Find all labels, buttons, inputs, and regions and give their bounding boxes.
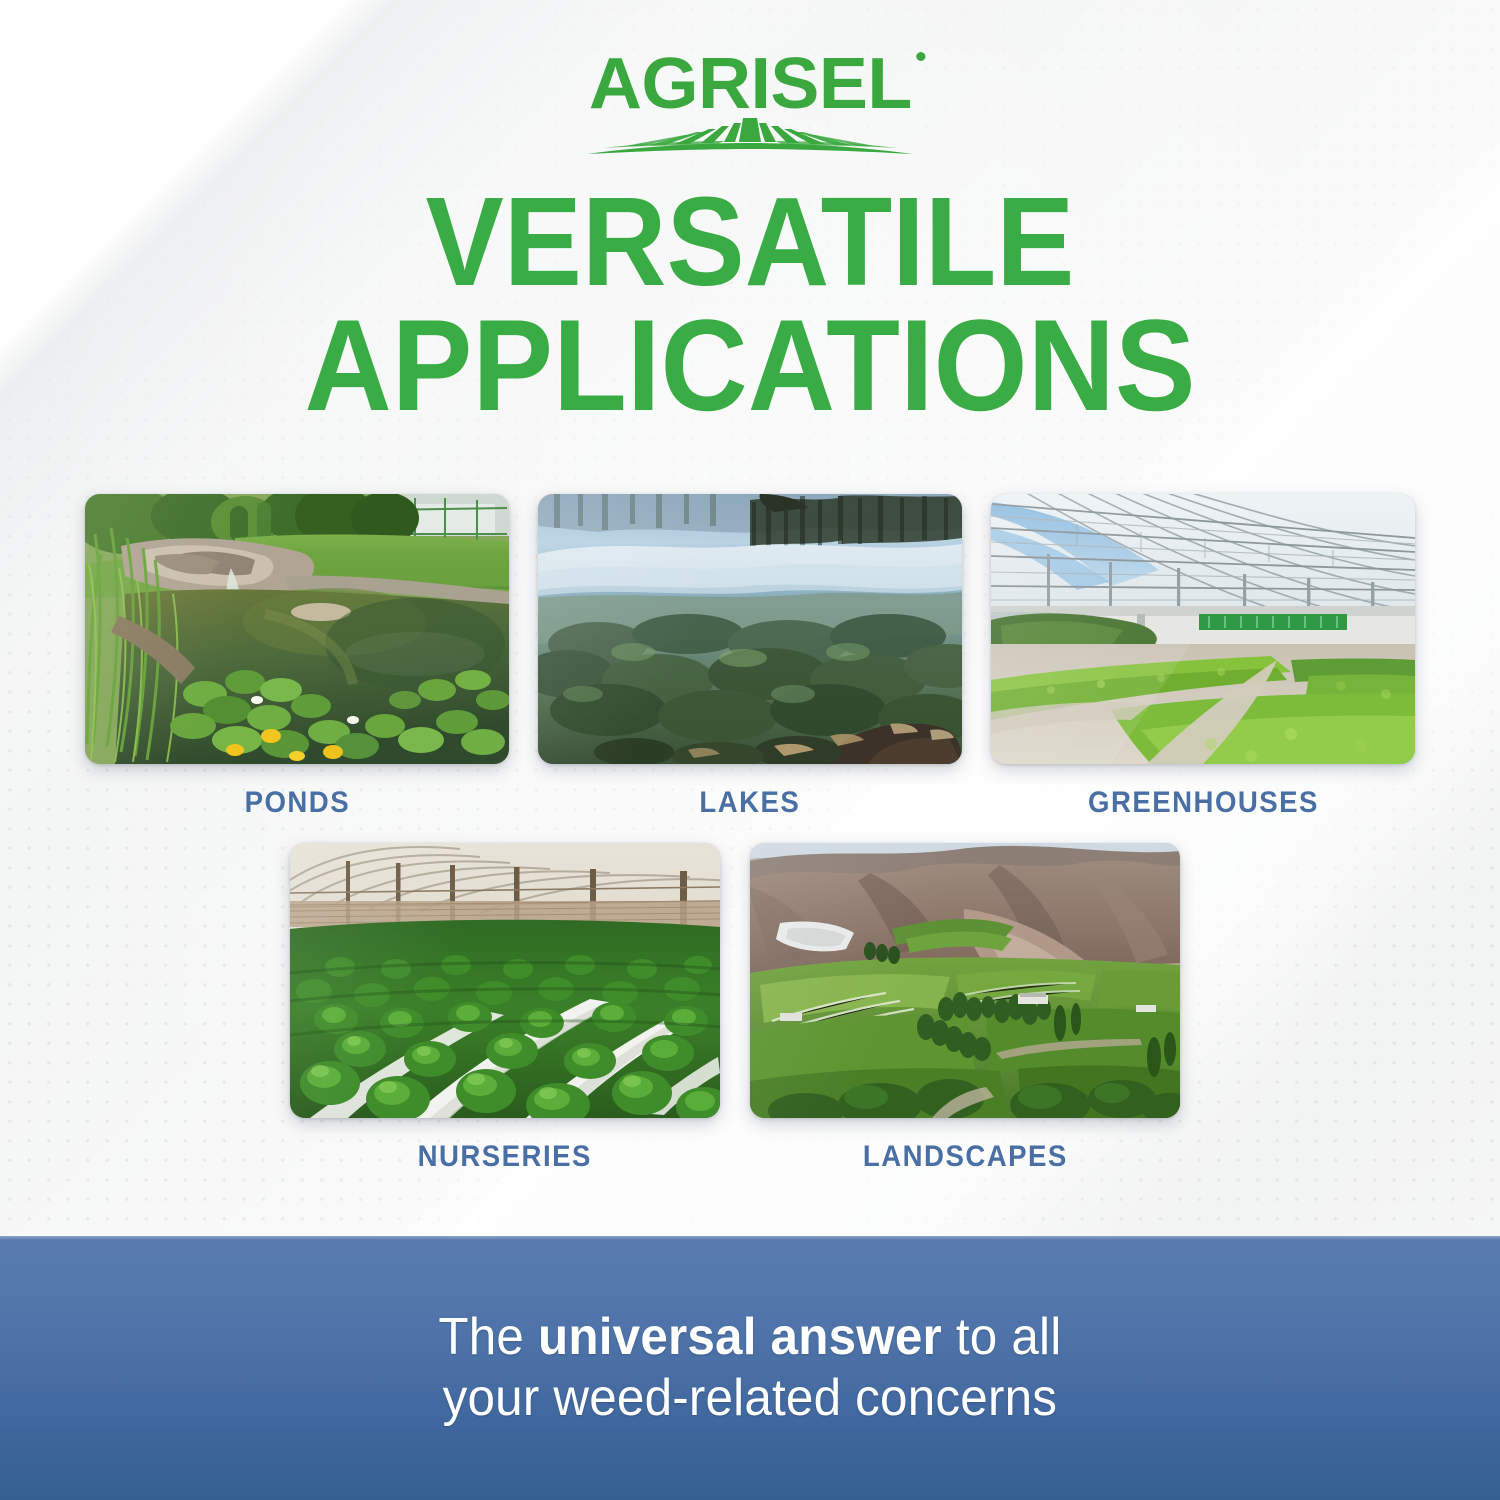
greenhouse-interior-photo — [991, 494, 1415, 764]
application-item-lakes[interactable]: LAKES — [538, 494, 962, 820]
brand-logo: AGRISEL — [0, 48, 1500, 160]
application-image-lakes — [538, 494, 962, 764]
tagline-post: to all — [942, 1308, 1061, 1366]
tagline-text: The universal answer to all your weed-re… — [439, 1307, 1062, 1430]
registered-mark-icon — [916, 52, 925, 61]
page-title-line-2: APPLICATIONS — [53, 303, 1448, 428]
tagline-emphasis: universal answer — [538, 1308, 942, 1366]
application-image-nurseries — [290, 843, 720, 1118]
application-image-ponds — [85, 494, 509, 764]
brand-logo-wordmark: AGRISEL — [589, 44, 912, 124]
application-label-nurseries: NURSERIES — [418, 1140, 592, 1174]
application-item-landscapes[interactable]: LANDSCAPES — [750, 843, 1180, 1174]
garden-pond-photo — [85, 494, 509, 764]
application-label-greenhouses: GREENHOUSES — [1088, 786, 1319, 820]
application-image-greenhouses — [991, 494, 1415, 764]
application-image-landscapes — [750, 843, 1180, 1118]
applications-row-2: NURSERIES — [290, 843, 1180, 1174]
application-item-nurseries[interactable]: NURSERIES — [290, 843, 720, 1174]
applications-row-1: PONDS — [85, 494, 1415, 820]
application-label-lakes: LAKES — [700, 786, 801, 820]
clear-lake-photo — [538, 494, 962, 764]
page-title: VERSATILE APPLICATIONS — [53, 182, 1448, 428]
versatile-applications-poster: AGRISEL VERSATILE AP — [0, 0, 1500, 1500]
application-label-landscapes: LANDSCAPES — [863, 1140, 1068, 1174]
tagline-banner: The universal answer to all your weed-re… — [0, 1236, 1500, 1500]
application-item-greenhouses[interactable]: GREENHOUSES — [991, 494, 1415, 820]
tagline-line-1: The universal answer to all — [439, 1307, 1062, 1368]
page-title-line-1: VERSATILE — [53, 182, 1448, 303]
tagline-line-2: your weed-related concerns — [439, 1368, 1062, 1429]
brand-logo-text: AGRISEL — [589, 48, 912, 120]
application-label-ponds: PONDS — [244, 786, 350, 820]
application-item-ponds[interactable]: PONDS — [85, 494, 509, 820]
green-valley-landscape-photo — [750, 843, 1180, 1118]
hydroponic-lettuce-nursery-photo — [290, 843, 720, 1118]
tagline-pre: The — [439, 1308, 539, 1366]
